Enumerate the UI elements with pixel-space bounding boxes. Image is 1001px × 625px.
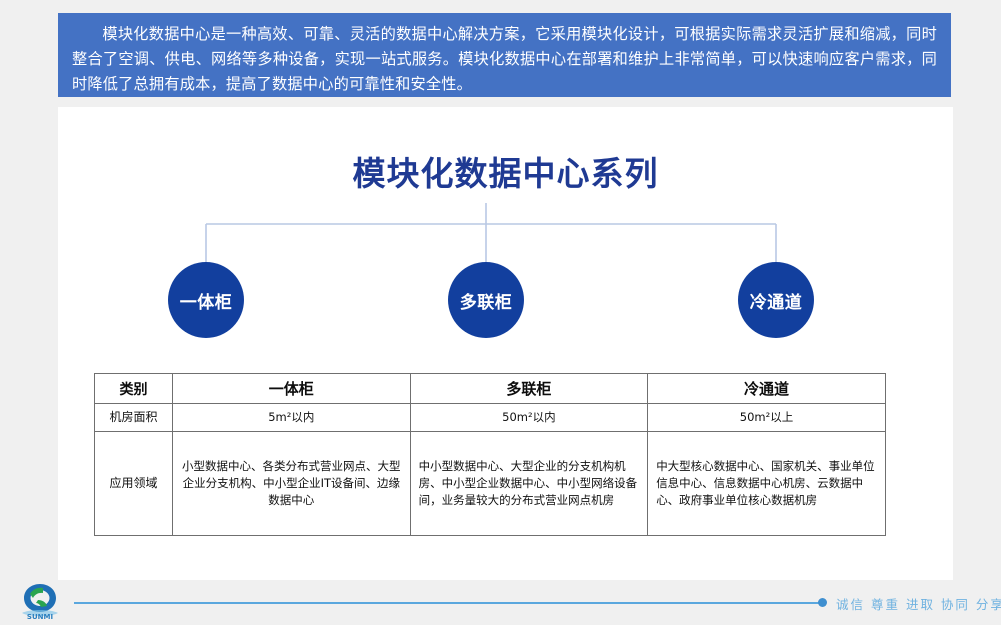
cell-usage-col-1: 小型数据中心、各类分布式营业网点、大型企业分支机构、中小型企业IT设备间、边缘数…	[173, 432, 411, 536]
spec-table: 类别 一体柜 多联柜 冷通道 机房面积 5m²以内 50m²以内 50m²以上 …	[94, 373, 886, 536]
content-panel: 模块化数据中心系列 一体柜 多联柜 冷通道	[58, 107, 953, 580]
diagram-title: 模块化数据中心系列	[58, 147, 953, 195]
diagram-node-1-label: 多联柜	[460, 288, 513, 313]
footer-slogan: 诚信 尊重 进取 协同 分享	[836, 594, 1001, 613]
diagram-node-2-label: 冷通道	[750, 288, 803, 313]
table-header-category: 类别	[95, 374, 173, 404]
table-header-col-2: 多联柜	[410, 374, 648, 404]
row-label-area: 机房面积	[95, 404, 173, 432]
cell-usage-col-2: 中小型数据中心、大型企业的分支机构机房、中小型企业数据中心、中小型网络设备间，业…	[410, 432, 648, 536]
company-logo-icon: SUNMI	[16, 580, 64, 622]
spec-table-head: 类别 一体柜 多联柜 冷通道	[95, 374, 886, 404]
table-row: 机房面积 5m²以内 50m²以内 50m²以上	[95, 404, 886, 432]
cell-area-col-3: 50m²以上	[648, 404, 886, 432]
diagram-node-1[interactable]: 多联柜	[448, 262, 524, 338]
table-header-row: 类别 一体柜 多联柜 冷通道	[95, 374, 886, 404]
cell-usage-col-3: 中大型核心数据中心、国家机关、事业单位信息中心、信息数据中心机房、云数据中心、政…	[648, 432, 886, 536]
row-label-usage: 应用领域	[95, 432, 173, 536]
diagram-node-0-label: 一体柜	[180, 288, 233, 313]
cell-area-col-2: 50m²以内	[410, 404, 648, 432]
cell-area-col-1: 5m²以内	[173, 404, 411, 432]
table-header-col-1: 一体柜	[173, 374, 411, 404]
table-row: 应用领域 小型数据中心、各类分布式营业网点、大型企业分支机构、中小型企业IT设备…	[95, 432, 886, 536]
footer-divider-line	[74, 602, 822, 604]
company-logo-text: SUNMI	[27, 613, 53, 621]
footer-line-endpoint-dot	[818, 598, 827, 607]
diagram-node-0[interactable]: 一体柜	[168, 262, 244, 338]
intro-paragraph: 模块化数据中心是一种高效、可靠、灵活的数据中心解决方案，它采用模块化设计，可根据…	[72, 22, 937, 97]
intro-banner: 模块化数据中心是一种高效、可靠、灵活的数据中心解决方案，它采用模块化设计，可根据…	[58, 13, 951, 97]
diagram-connectors	[58, 203, 953, 273]
footer: SUNMI 诚信 尊重 进取 协同 分享	[0, 580, 1001, 625]
slide: 模块化数据中心是一种高效、可靠、灵活的数据中心解决方案，它采用模块化设计，可根据…	[0, 0, 1001, 625]
table-header-col-3: 冷通道	[648, 374, 886, 404]
diagram-node-2[interactable]: 冷通道	[738, 262, 814, 338]
spec-table-body: 机房面积 5m²以内 50m²以内 50m²以上 应用领域 小型数据中心、各类分…	[95, 404, 886, 536]
